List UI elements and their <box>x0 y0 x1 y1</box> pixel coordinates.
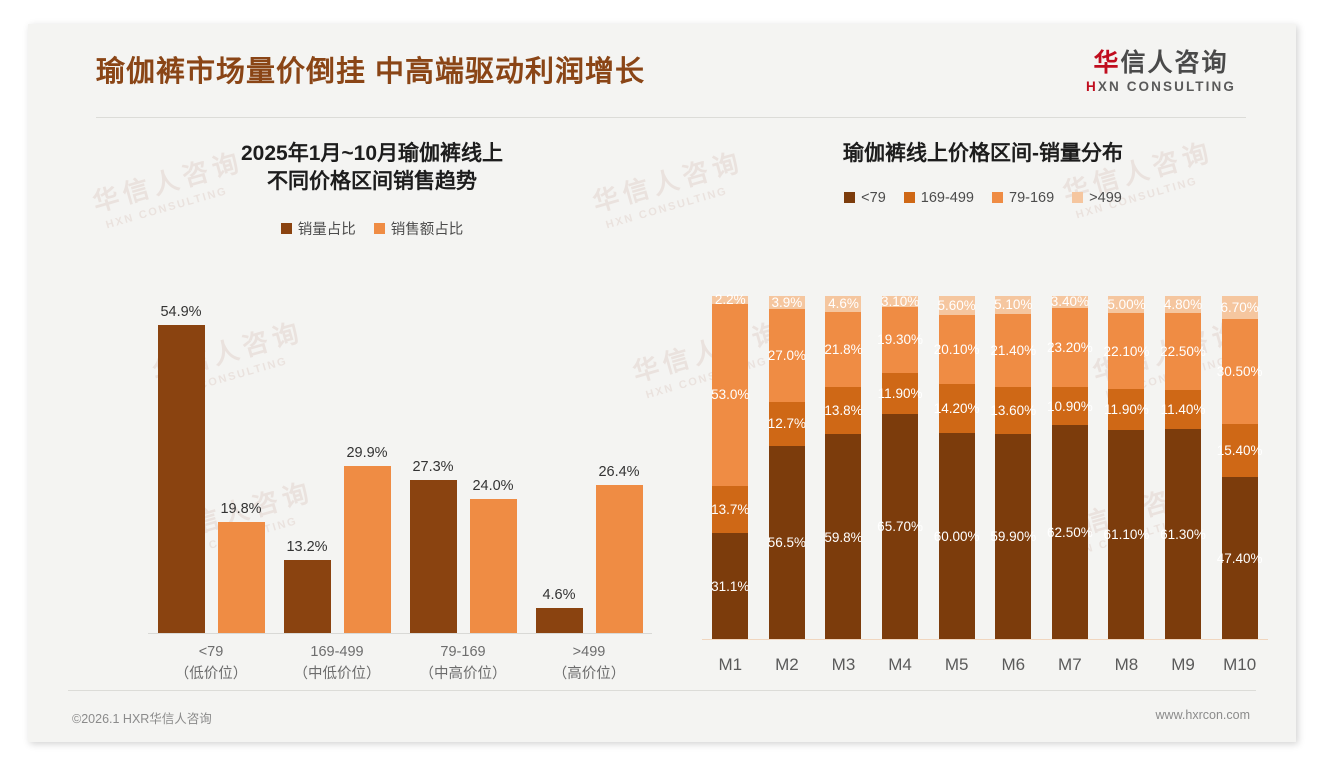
category-label-main: <79 <box>199 644 224 660</box>
bar-value-label: 26.4% <box>598 464 639 480</box>
logo-chinese-rest: 信人咨询 <box>1121 49 1229 77</box>
stacked-bar-column: 5.00%22.10%11.90%61.10% <box>1098 296 1155 640</box>
category-label: 79-169（中高价位） <box>400 636 526 692</box>
segment-value-label: 27.0% <box>768 348 806 363</box>
stacked-segment[interactable]: 12.7% <box>769 402 805 446</box>
stacked-segment[interactable]: 22.10% <box>1108 313 1144 389</box>
stacked-bar-month-labels: M1M2M3M4M5M6M7M8M9M10 <box>702 642 1268 692</box>
company-logo: 华信人咨询 HXN CONSULTING <box>1076 50 1246 94</box>
segment-value-label: 6.70% <box>1221 300 1259 315</box>
bar-value-label: 24.0% <box>472 478 513 494</box>
bar-value-label: 27.3% <box>412 459 453 475</box>
left-legend-item-0[interactable]: 销量占比 <box>281 218 356 239</box>
left-chart-title-line2: 不同价格区间销售趋势 <box>64 168 680 196</box>
bar-value-label: 29.9% <box>346 445 387 461</box>
stacked-bar-column: 3.9%27.0%12.7%56.5% <box>759 296 816 640</box>
stacked-bar[interactable]: 6.70%30.50%15.40%47.40% <box>1222 296 1258 640</box>
bar-value-label: 4.6% <box>542 587 575 603</box>
right-legend-item-2[interactable]: 79-169 <box>992 190 1054 206</box>
bar-value-label: 19.8% <box>220 501 261 517</box>
segment-value-label: 21.40% <box>990 343 1036 358</box>
stacked-segment[interactable]: 56.5% <box>769 446 805 640</box>
segment-value-label: 13.7% <box>711 502 749 517</box>
logo-chinese: 华信人咨询 <box>1076 50 1246 76</box>
segment-value-label: 11.90% <box>1104 402 1149 417</box>
left-chart-panel: 2025年1月~10月瑜伽裤线上 不同价格区间销售趋势 销量占比销售额占比 54… <box>64 118 680 690</box>
stacked-segment[interactable]: 15.40% <box>1222 424 1258 477</box>
bar-value-share[interactable]: 19.8% <box>218 522 265 634</box>
stacked-bar[interactable]: 3.10%19.30%11.90%65.70% <box>882 296 918 640</box>
logo-chinese-red: 华 <box>1093 49 1120 77</box>
stacked-segment[interactable]: 30.50% <box>1222 319 1258 424</box>
bar-volume-share[interactable]: 27.3% <box>410 480 457 634</box>
category-label: 169-499（中低价位） <box>274 636 400 692</box>
stacked-segment[interactable]: 62.50% <box>1052 425 1088 640</box>
legend-swatch-icon <box>992 192 1003 203</box>
left-legend-item-1[interactable]: 销售额占比 <box>374 218 464 239</box>
month-label: M5 <box>928 642 985 692</box>
segment-value-label: 20.10% <box>934 342 980 357</box>
segment-value-label: 61.10% <box>1104 527 1150 542</box>
right-chart-title-line1: 瑜伽裤线上价格区间-销量分布 <box>688 140 1278 168</box>
legend-swatch-icon <box>904 192 915 203</box>
segment-value-label: 4.6% <box>828 296 859 311</box>
segment-value-label: 13.60% <box>990 403 1036 418</box>
stacked-segment[interactable]: 13.60% <box>995 387 1031 434</box>
stacked-bar-axis-line <box>702 639 1268 640</box>
stacked-segment[interactable]: 5.00% <box>1108 296 1144 313</box>
stacked-segment[interactable]: 47.40% <box>1222 477 1258 640</box>
grouped-bar-axis-line <box>148 633 652 634</box>
bar-value-label: 54.9% <box>160 304 201 320</box>
legend-swatch-icon <box>844 192 855 203</box>
bar-volume-share[interactable]: 4.6% <box>536 608 583 634</box>
segment-value-label: 53.0% <box>711 387 749 402</box>
stacked-segment[interactable]: 2.2% <box>712 296 748 304</box>
stacked-segment[interactable]: 14.20% <box>939 384 975 433</box>
category-label: >499（高价位） <box>526 636 652 692</box>
stacked-segment[interactable]: 53.0% <box>712 304 748 486</box>
category-label-sub: （高价位） <box>526 664 652 686</box>
category-label-sub: （中高价位） <box>400 664 526 686</box>
stacked-segment[interactable]: 13.8% <box>825 387 861 434</box>
bar-value-share[interactable]: 24.0% <box>470 499 517 634</box>
month-label: M4 <box>872 642 929 692</box>
category-label-sub: （低价位） <box>148 664 274 686</box>
bar-group: 27.3%24.0% <box>400 296 526 634</box>
logo-english-rest: XN CONSULTING <box>1098 79 1236 94</box>
legend-label: 销量占比 <box>298 218 356 239</box>
stacked-segment[interactable]: 31.1% <box>712 533 748 640</box>
category-label-sub: （中低价位） <box>274 664 400 686</box>
bar-group: 4.6%26.4% <box>526 296 652 634</box>
stacked-bar[interactable]: 3.9%27.0%12.7%56.5% <box>769 296 805 640</box>
stacked-bar-column: 3.40%23.20%10.90%62.50% <box>1042 296 1099 640</box>
slide-footer: ©2026.1 HXR华信人咨询 www.hxrcon.com <box>28 690 1296 742</box>
month-label: M7 <box>1042 642 1099 692</box>
segment-value-label: 22.10% <box>1104 344 1150 359</box>
segment-value-label: 14.20% <box>934 401 980 416</box>
segment-value-label: 5.10% <box>994 297 1032 312</box>
month-label: M9 <box>1155 642 1212 692</box>
stacked-bar[interactable]: 5.00%22.10%11.90%61.10% <box>1108 296 1144 640</box>
stacked-segment[interactable]: 5.60% <box>939 296 975 315</box>
stacked-segment[interactable]: 3.10% <box>882 296 918 307</box>
right-chart-title: 瑜伽裤线上价格区间-销量分布 <box>688 118 1278 168</box>
left-chart-title: 2025年1月~10月瑜伽裤线上 不同价格区间销售趋势 <box>64 118 680 196</box>
stacked-bar-column: 5.60%20.10%14.20%60.00% <box>928 296 985 640</box>
segment-value-label: 59.90% <box>990 529 1036 544</box>
legend-label: >499 <box>1089 190 1122 206</box>
segment-value-label: 19.30% <box>877 332 923 347</box>
segment-value-label: 60.00% <box>934 529 980 544</box>
stacked-segment[interactable]: 21.40% <box>995 314 1031 388</box>
stacked-segment[interactable]: 11.90% <box>882 373 918 414</box>
stacked-segment[interactable]: 59.90% <box>995 434 1031 640</box>
bar-value-share[interactable]: 26.4% <box>596 485 643 634</box>
month-label: M6 <box>985 642 1042 692</box>
stacked-segment[interactable]: 27.0% <box>769 309 805 402</box>
segment-value-label: 59.8% <box>824 530 862 545</box>
month-label: M1 <box>702 642 759 692</box>
segment-value-label: 47.40% <box>1217 551 1263 566</box>
grouped-bar-category-labels: <79（低价位）169-499（中低价位）79-169（中高价位）>499（高价… <box>148 636 652 692</box>
category-label-main: >499 <box>573 644 606 660</box>
legend-label: <79 <box>861 190 886 206</box>
stacked-segment[interactable]: 3.40% <box>1052 296 1088 308</box>
stacked-segment[interactable]: 11.90% <box>1108 389 1144 430</box>
category-label-main: 79-169 <box>440 644 485 660</box>
stacked-segment[interactable]: 19.30% <box>882 307 918 373</box>
segment-value-label: 21.8% <box>824 342 862 357</box>
left-chart-legend: 销量占比销售额占比 <box>64 218 680 239</box>
stacked-segment[interactable]: 4.6% <box>825 296 861 312</box>
right-chart-legend: <79169-49979-169>499 <box>688 190 1278 206</box>
footer-website[interactable]: www.hxrcon.com <box>1156 708 1250 722</box>
segment-value-label: 61.30% <box>1160 527 1206 542</box>
legend-label: 79-169 <box>1009 190 1054 206</box>
stacked-segment[interactable]: 6.70% <box>1222 296 1258 319</box>
stacked-bar-column: 6.70%30.50%15.40%47.40% <box>1211 296 1268 640</box>
stacked-segment[interactable]: 59.8% <box>825 434 861 640</box>
stacked-bar[interactable]: 5.10%21.40%13.60%59.90% <box>995 296 1031 640</box>
bar-value-label: 13.2% <box>286 539 327 555</box>
stacked-bar-plot: 2.2%53.0%13.7%31.1%3.9%27.0%12.7%56.5%4.… <box>702 296 1268 640</box>
right-legend-item-1[interactable]: 169-499 <box>904 190 974 206</box>
segment-value-label: 4.80% <box>1164 297 1202 312</box>
footer-copyright: ©2026.1 HXR华信人咨询 <box>72 708 212 727</box>
segment-value-label: 11.90% <box>878 386 923 401</box>
page-title: 瑜伽裤市场量价倒挂 中高端驱动利润增长 <box>96 48 645 90</box>
stacked-segment[interactable]: 61.30% <box>1165 429 1201 640</box>
legend-label: 169-499 <box>921 190 974 206</box>
stacked-bar-column: 4.80%22.50%11.40%61.30% <box>1155 296 1212 640</box>
slide: 瑜伽裤市场量价倒挂 中高端驱动利润增长 华信人咨询 HXN CONSULTING… <box>28 24 1296 742</box>
stacked-segment[interactable]: 61.10% <box>1108 430 1144 640</box>
stacked-bar[interactable]: 5.60%20.10%14.20%60.00% <box>939 296 975 640</box>
month-label: M2 <box>759 642 816 692</box>
segment-value-label: 65.70% <box>877 519 923 534</box>
legend-swatch-icon <box>374 223 385 234</box>
stacked-segment[interactable]: 5.10% <box>995 296 1031 314</box>
segment-value-label: 5.00% <box>1107 297 1145 312</box>
legend-swatch-icon <box>1072 192 1083 203</box>
stacked-segment[interactable]: 11.40% <box>1165 390 1201 429</box>
stacked-bar[interactable]: 4.6%21.8%13.8%59.8% <box>825 296 861 640</box>
stacked-bar[interactable]: 3.40%23.20%10.90%62.50% <box>1052 296 1088 640</box>
bar-volume-share[interactable]: 13.2% <box>284 560 331 634</box>
segment-value-label: 56.5% <box>768 535 806 550</box>
stacked-bar-column: 2.2%53.0%13.7%31.1% <box>702 296 759 640</box>
stacked-segment[interactable]: 4.80% <box>1165 296 1201 313</box>
month-label: M8 <box>1098 642 1155 692</box>
stacked-bar[interactable]: 4.80%22.50%11.40%61.30% <box>1165 296 1201 640</box>
stacked-bar-chart: 2.2%53.0%13.7%31.1%3.9%27.0%12.7%56.5%4.… <box>688 296 1278 692</box>
bar-value-share[interactable]: 29.9% <box>344 466 391 634</box>
stacked-bar-column: 5.10%21.40%13.60%59.90% <box>985 296 1042 640</box>
logo-english: HXN CONSULTING <box>1076 79 1246 94</box>
legend-label: 销售额占比 <box>391 218 464 239</box>
segment-value-label: 30.50% <box>1217 364 1263 379</box>
segment-value-label: 31.1% <box>711 579 749 594</box>
stacked-segment[interactable]: 60.00% <box>939 433 975 640</box>
right-chart-panel: 瑜伽裤线上价格区间-销量分布 <79169-49979-169>499 2.2%… <box>688 118 1278 690</box>
logo-english-red: H <box>1086 79 1098 94</box>
stacked-segment[interactable]: 20.10% <box>939 315 975 384</box>
stacked-segment[interactable]: 10.90% <box>1052 387 1088 424</box>
stacked-segment[interactable]: 22.50% <box>1165 313 1201 390</box>
stacked-segment[interactable]: 65.70% <box>882 414 918 640</box>
segment-value-label: 11.40% <box>1161 402 1206 417</box>
segment-value-label: 5.60% <box>938 298 976 313</box>
stacked-bar-column: 4.6%21.8%13.8%59.8% <box>815 296 872 640</box>
grouped-bar-groups: 54.9%19.8%13.2%29.9%27.3%24.0%4.6%26.4% <box>148 296 652 634</box>
grouped-bar-plot: 54.9%19.8%13.2%29.9%27.3%24.0%4.6%26.4% <box>148 296 652 634</box>
right-legend-item-3[interactable]: >499 <box>1072 190 1122 206</box>
category-label-main: 169-499 <box>310 644 363 660</box>
segment-value-label: 22.50% <box>1160 344 1206 359</box>
segment-value-label: 15.40% <box>1217 443 1263 458</box>
stacked-segment[interactable]: 3.9% <box>769 296 805 309</box>
stacked-bar[interactable]: 2.2%53.0%13.7%31.1% <box>712 296 748 640</box>
segment-value-label: 23.20% <box>1047 340 1093 355</box>
footer-divider <box>68 690 1256 691</box>
stacked-segment[interactable]: 23.20% <box>1052 308 1088 388</box>
segment-value-label: 62.50% <box>1047 525 1093 540</box>
bar-volume-share[interactable]: 54.9% <box>158 325 205 634</box>
stacked-segment[interactable]: 21.8% <box>825 312 861 387</box>
legend-swatch-icon <box>281 223 292 234</box>
stacked-segment[interactable]: 13.7% <box>712 486 748 533</box>
right-legend-item-0[interactable]: <79 <box>844 190 886 206</box>
segment-value-label: 13.8% <box>824 403 862 418</box>
slide-header: 瑜伽裤市场量价倒挂 中高端驱动利润增长 华信人咨询 HXN CONSULTING <box>28 24 1296 118</box>
month-label: M3 <box>815 642 872 692</box>
segment-value-label: 3.9% <box>772 295 803 310</box>
segment-value-label: 12.7% <box>768 416 806 431</box>
left-chart-title-line1: 2025年1月~10月瑜伽裤线上 <box>64 140 680 168</box>
charts-area: 2025年1月~10月瑜伽裤线上 不同价格区间销售趋势 销量占比销售额占比 54… <box>28 118 1296 690</box>
stacked-bar-column: 3.10%19.30%11.90%65.70% <box>872 296 929 640</box>
category-label: <79（低价位） <box>148 636 274 692</box>
bar-group: 54.9%19.8% <box>148 296 274 634</box>
segment-value-label: 10.90% <box>1047 399 1093 414</box>
month-label: M10 <box>1211 642 1268 692</box>
bar-group: 13.2%29.9% <box>274 296 400 634</box>
grouped-bar-chart: 54.9%19.8%13.2%29.9%27.3%24.0%4.6%26.4% … <box>64 296 680 692</box>
